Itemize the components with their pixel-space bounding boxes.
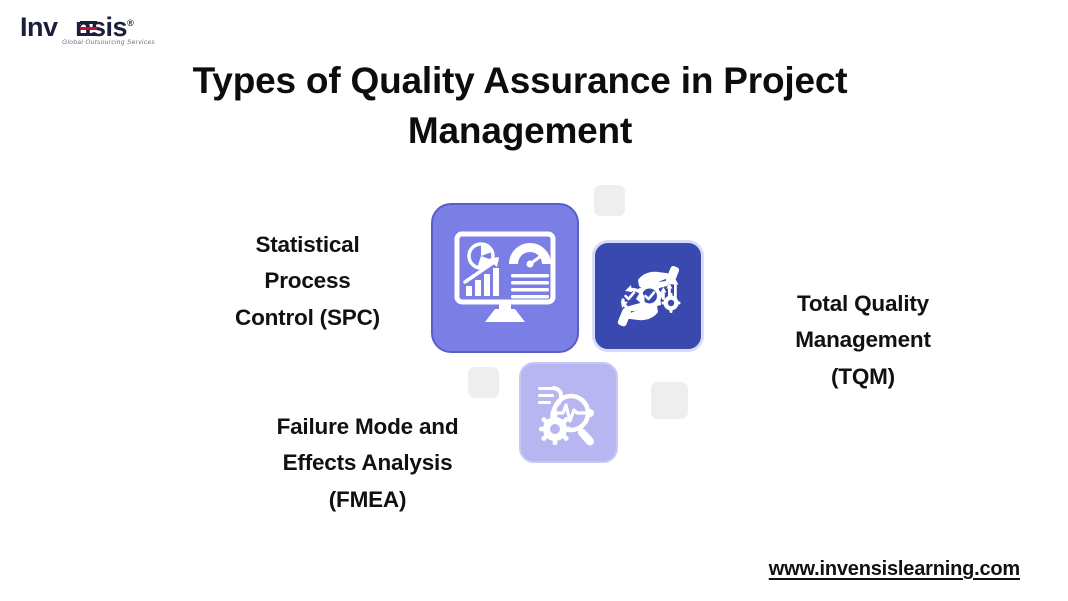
invensis-logo: InvEnsis® Global Outsourcing Services (20, 14, 160, 48)
logo-bar-middle-red (80, 27, 97, 30)
decorative-square (651, 382, 688, 419)
label-total-quality-management: Total Quality Management (TQM) (748, 286, 978, 395)
icon-card-spc (431, 203, 579, 353)
dashboard-monitor-icon (453, 230, 557, 326)
logo-bar-bottom (80, 33, 97, 36)
icon-card-tqm (592, 240, 704, 352)
label-statistical-process-control: Statistical Process Control (SPC) (195, 227, 420, 336)
decorative-square (468, 367, 499, 398)
logo-bar-top (80, 21, 97, 24)
hands-quality-badge-icon (608, 256, 688, 336)
label-line: Management (748, 322, 978, 358)
magnifier-pulse-gear-icon (533, 377, 605, 449)
label-failure-mode-effects-analysis: Failure Mode and Effects Analysis (FMEA) (225, 409, 510, 518)
label-line: Total Quality (748, 286, 978, 322)
registered-mark: ® (127, 18, 133, 28)
logo-tagline: Global Outsourcing Services (62, 39, 155, 46)
label-line: (TQM) (748, 359, 978, 395)
icon-card-fmea (519, 362, 618, 463)
label-line: Statistical (195, 227, 420, 263)
label-line: Effects Analysis (225, 445, 510, 481)
logo-word-prefix: Inv (20, 12, 58, 42)
label-line: Control (SPC) (195, 300, 420, 336)
label-line: Failure Mode and (225, 409, 510, 445)
label-line: (FMEA) (225, 482, 510, 518)
website-url-link[interactable]: www.invensislearning.com (769, 558, 1020, 581)
label-line: Process (195, 263, 420, 299)
decorative-square (594, 185, 625, 216)
page-title: Types of Quality Assurance in Project Ma… (120, 56, 920, 157)
